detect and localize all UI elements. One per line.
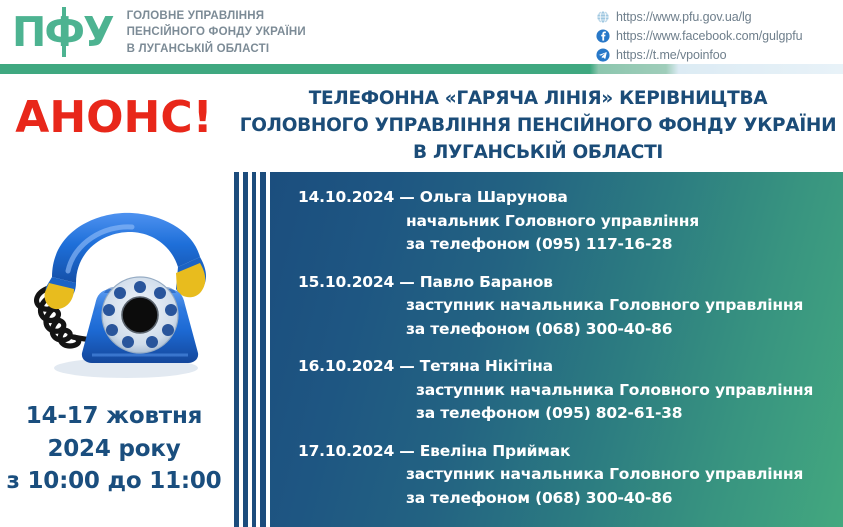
telegram-link[interactable]: https://t.me/vpoinfoo [596, 46, 803, 64]
website-link[interactable]: https://www.pfu.gov.ua/lg [596, 8, 803, 26]
entry-date-name: 14.10.2024 — Ольга Шарунова [298, 186, 843, 210]
org-line-3: В ЛУГАНСЬКІЙ ОБЛАСТІ [127, 41, 306, 57]
facebook-icon [596, 29, 610, 43]
announcement-poster: ПФУ ГОЛОВНЕ УПРАВЛІННЯ ПЕНСІЙНОГО ФОНДУ … [0, 0, 843, 527]
date-line-3: з 10:00 до 11:00 [0, 465, 228, 498]
entry-position: заступник начальника Головного управлінн… [298, 379, 843, 403]
organization-name: ГОЛОВНЕ УПРАВЛІННЯ ПЕНСІЙНОГО ФОНДУ УКРА… [127, 8, 306, 57]
facebook-link[interactable]: https://www.facebook.com/gulgpfu [596, 27, 803, 45]
page-title: ТЕЛЕФОННА «ГАРЯЧА ЛІНІЯ» КЕРІВНИЦТВА ГОЛ… [238, 86, 838, 166]
website-url: https://www.pfu.gov.ua/lg [616, 10, 752, 24]
announce-heading: АНОНС! [0, 96, 228, 140]
stripe-4 [260, 172, 266, 527]
date-line-2: 2024 року [0, 433, 228, 466]
org-line-1: ГОЛОВНЕ УПРАВЛІННЯ [127, 8, 306, 24]
organization-logo: ПФУ ГОЛОВНЕ УПРАВЛІННЯ ПЕНСІЙНОГО ФОНДУ … [12, 8, 306, 57]
entry-phone: за телефоном (068) 300-40-86 [298, 487, 843, 511]
decorative-stripes [234, 172, 270, 527]
rotary-dial [102, 277, 178, 353]
hotline-date-time: 14-17 жовтня 2024 року з 10:00 до 11:00 [0, 400, 228, 498]
schedule-entry: 15.10.2024 — Павло Баранов заступник нач… [270, 271, 843, 342]
org-line-2: ПЕНСІЙНОГО ФОНДУ УКРАЇНИ [127, 24, 306, 40]
page-header: ПФУ ГОЛОВНЕ УПРАВЛІННЯ ПЕНСІЙНОГО ФОНДУ … [0, 0, 843, 62]
entry-date-name: 16.10.2024 — Тетяна Нікітіна [298, 355, 843, 379]
telegram-icon [596, 48, 610, 62]
title-line-3: В ЛУГАНСЬКІЙ ОБЛАСТІ [238, 140, 838, 167]
stripe-2 [243, 172, 248, 527]
telephone-illustration [8, 205, 223, 390]
telegram-url: https://t.me/vpoinfoo [616, 48, 726, 62]
schedule-entry: 16.10.2024 — Тетяна Нікітіна заступник н… [270, 355, 843, 426]
globe-icon [596, 10, 610, 24]
title-line-1: ТЕЛЕФОННА «ГАРЯЧА ЛІНІЯ» КЕРІВНИЦТВА [238, 86, 838, 113]
phi-stem-decoration [62, 7, 66, 57]
entry-phone: за телефоном (095) 802-61-38 [298, 402, 843, 426]
entry-date-name: 15.10.2024 — Павло Баранов [298, 271, 843, 295]
pfu-logo-mark: ПФУ [12, 12, 117, 53]
date-line-1: 14-17 жовтня [0, 400, 228, 433]
entry-phone: за телефоном (068) 300-40-86 [298, 318, 843, 342]
entry-position: заступник начальника Головного управлінн… [298, 463, 843, 487]
entry-phone: за телефоном (095) 117-16-28 [298, 233, 843, 257]
schedule-entry: 17.10.2024 — Евеліна Приймак заступник н… [270, 440, 843, 511]
entry-position: заступник начальника Головного управлінн… [298, 294, 843, 318]
header-divider [0, 64, 843, 74]
contact-links: https://www.pfu.gov.ua/lg https://www.fa… [596, 8, 803, 65]
schedule-panel: 14.10.2024 — Ольга Шарунова начальник Го… [270, 172, 843, 527]
stripe-1 [234, 172, 239, 527]
schedule-entry: 14.10.2024 — Ольга Шарунова начальник Го… [270, 186, 843, 257]
title-line-2: ГОЛОВНОГО УПРАВЛІННЯ ПЕНСІЙНОГО ФОНДУ УК… [238, 113, 838, 140]
facebook-url: https://www.facebook.com/gulgpfu [616, 29, 803, 43]
entry-position: начальник Головного управління [298, 210, 843, 234]
stripe-3 [252, 172, 256, 527]
entry-date-name: 17.10.2024 — Евеліна Приймак [298, 440, 843, 464]
